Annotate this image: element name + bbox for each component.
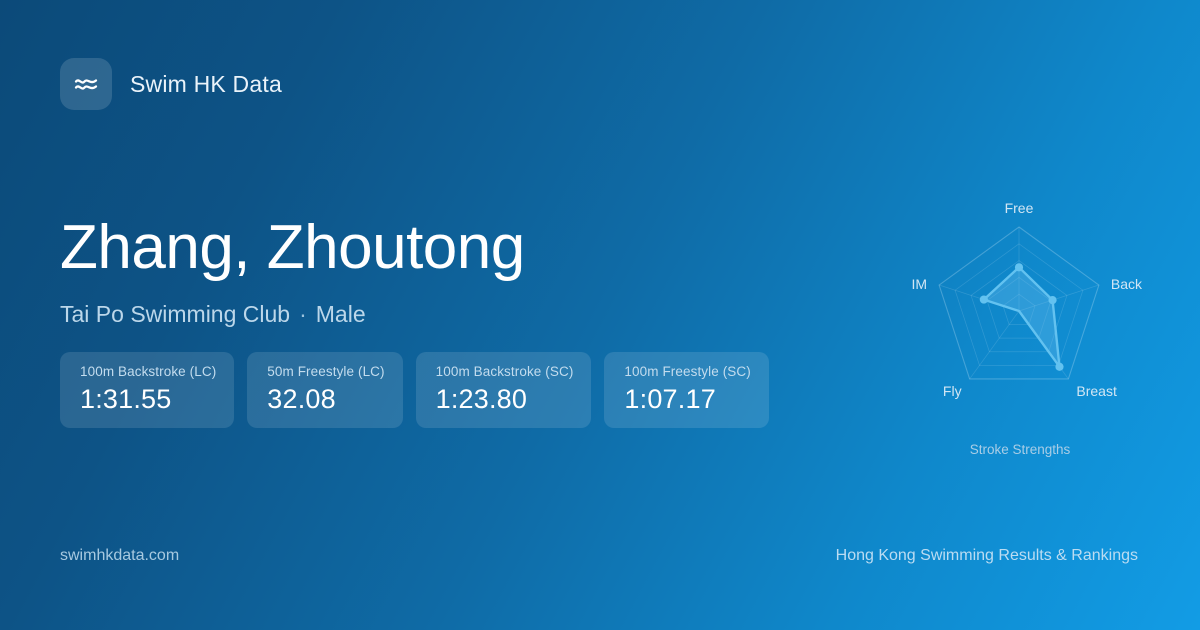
brand-name: Swim HK Data	[130, 71, 282, 98]
radar-axis-label-breast: Breast	[1076, 383, 1117, 399]
stat-card[interactable]: 100m Backstroke (SC) 1:23.80	[416, 352, 592, 428]
stroke-strengths-radar-chart: FreeBackBreastFlyIM Stroke Strengths	[860, 168, 1180, 468]
stat-card-value: 1:31.55	[80, 384, 216, 415]
footer-site-url[interactable]: swimhkdata.com	[60, 547, 179, 565]
athlete-gender: Male	[316, 301, 366, 327]
stat-card[interactable]: 100m Freestyle (SC) 1:07.17	[604, 352, 768, 428]
meta-separator: ·	[290, 301, 316, 327]
radar-axis-label-im: IM	[912, 276, 928, 292]
radar-svg: FreeBackBreastFlyIM	[860, 168, 1180, 438]
radar-caption: Stroke Strengths	[860, 442, 1180, 457]
athlete-meta: Tai Po Swimming Club·Male	[60, 301, 525, 328]
wave-icon	[60, 58, 112, 110]
stat-card[interactable]: 50m Freestyle (LC) 32.08	[247, 352, 402, 428]
stat-card[interactable]: 100m Backstroke (LC) 1:31.55	[60, 352, 234, 428]
page-title: Zhang, Zhoutong	[60, 216, 525, 279]
stat-card-label: 100m Backstroke (LC)	[80, 364, 216, 379]
radar-axis-label-back: Back	[1111, 276, 1143, 292]
stat-card-label: 100m Backstroke (SC)	[436, 364, 574, 379]
athlete-club: Tai Po Swimming Club	[60, 301, 290, 327]
radar-axis-label-fly: Fly	[943, 383, 962, 399]
radar-axis-label-free: Free	[1005, 200, 1034, 216]
stat-card-label: 50m Freestyle (LC)	[267, 364, 384, 379]
best-times-list: 100m Backstroke (LC) 1:31.55 50m Freesty…	[60, 352, 769, 428]
stat-card-value: 1:23.80	[436, 384, 574, 415]
stat-card-label: 100m Freestyle (SC)	[624, 364, 750, 379]
stat-card-value: 1:07.17	[624, 384, 750, 415]
footer-tagline: Hong Kong Swimming Results & Rankings	[836, 547, 1138, 565]
brand-header[interactable]: Swim HK Data	[60, 58, 282, 110]
athlete-hero: Zhang, Zhoutong Tai Po Swimming Club·Mal…	[60, 216, 525, 328]
stat-card-value: 32.08	[267, 384, 384, 415]
